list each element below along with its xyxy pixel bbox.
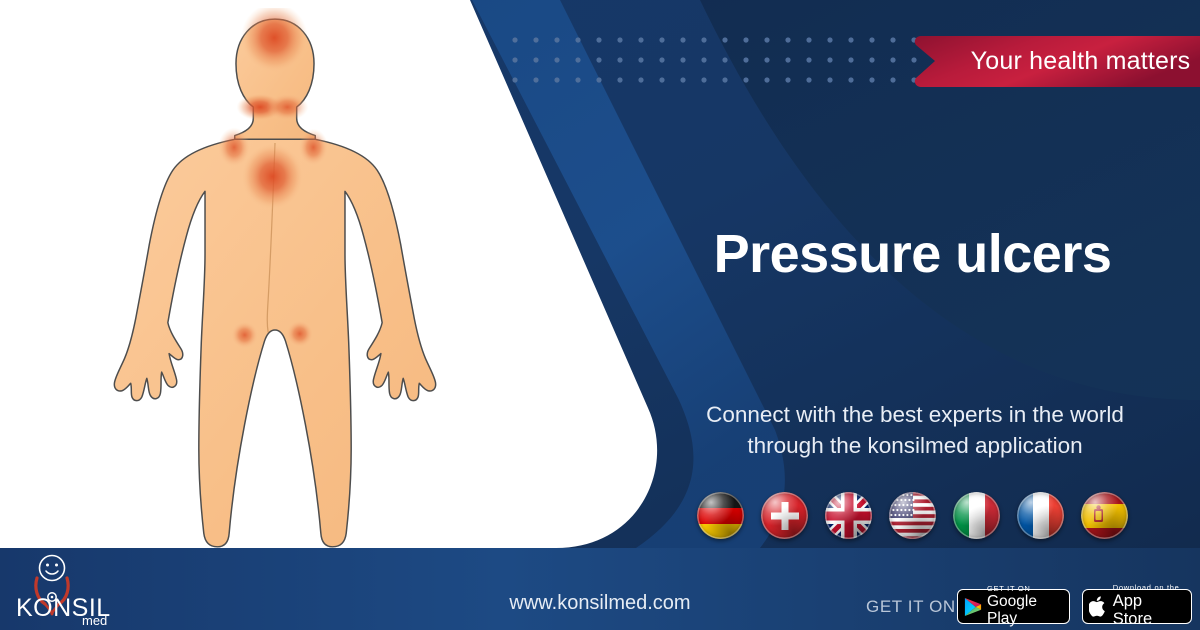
ulcer-point-heel-right	[286, 320, 313, 347]
subtitle-line-1: Connect with the best experts in the wor…	[660, 400, 1170, 431]
google-play-big-label: Google Play	[987, 594, 1063, 627]
flag-germany-graphic	[697, 492, 744, 539]
ulcer-point-elbow-right	[299, 129, 329, 166]
apple-logo-icon	[1089, 595, 1108, 618]
flag-switzerland-graphic	[761, 492, 808, 539]
human-body-illustration	[110, 8, 440, 553]
app-store-small-label: Download on the	[1113, 584, 1185, 592]
page-title: Pressure ulcers	[640, 226, 1185, 283]
google-play-icon	[964, 596, 982, 618]
flag-spain[interactable]	[1081, 492, 1128, 539]
ulcer-point-sacrum	[242, 143, 304, 210]
logo-suffix: med	[82, 613, 107, 626]
flag-united-kingdom[interactable]	[825, 492, 872, 539]
flag-switzerland[interactable]	[761, 492, 808, 539]
google-play-badge[interactable]: GET IT ON Google Play	[957, 589, 1070, 624]
health-ribbon-banner: Your health matters	[913, 32, 1200, 91]
app-store-badge[interactable]: Download on the App Store	[1082, 589, 1192, 624]
flag-italy[interactable]	[953, 492, 1000, 539]
website-url[interactable]: www.konsilmed.com	[420, 592, 780, 615]
app-store-big-label: App Store	[1113, 593, 1185, 629]
flag-spain-graphic	[1081, 492, 1128, 539]
konsilmed-logo[interactable]: KONSIL med	[10, 554, 128, 626]
get-it-on-label: GET IT ON	[866, 597, 956, 617]
subtitle-text: Connect with the best experts in the wor…	[660, 400, 1170, 461]
ribbon-label: Your health matters	[961, 32, 1200, 91]
ulcer-point-heel-left	[231, 321, 258, 348]
language-flag-row	[697, 491, 1137, 539]
google-play-small-label: GET IT ON	[987, 585, 1063, 593]
flag-italy-graphic	[953, 492, 1000, 539]
banner-canvas: Your health matters Pressure ulcers Conn…	[0, 0, 1200, 630]
ulcer-point-scapula-right	[266, 93, 308, 120]
flag-united-kingdom-graphic	[825, 492, 872, 539]
flag-france[interactable]	[1017, 492, 1064, 539]
subtitle-line-2: through the konsilmed application	[660, 431, 1170, 462]
flag-united-states[interactable]	[889, 492, 936, 539]
flag-united-states-graphic	[889, 492, 936, 539]
flag-france-graphic	[1017, 492, 1064, 539]
flag-germany[interactable]	[697, 492, 744, 539]
